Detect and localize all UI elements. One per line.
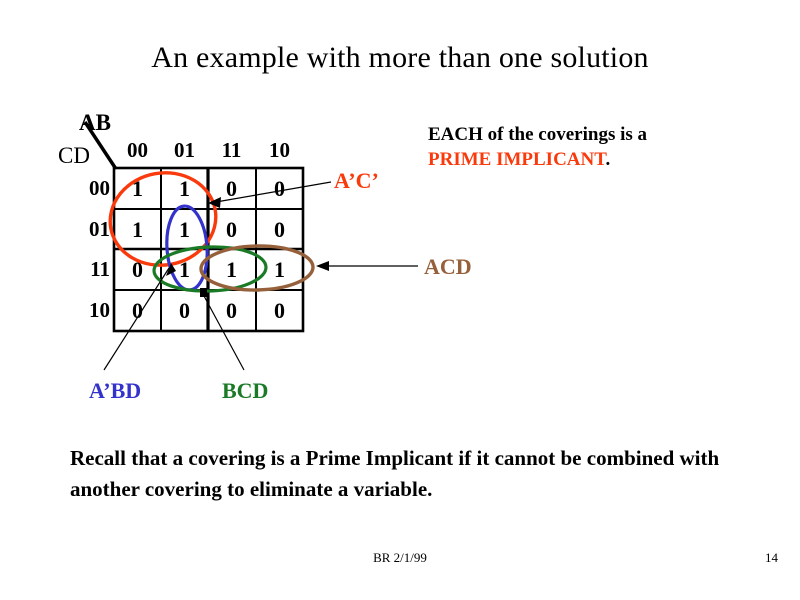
kmap-col-header-2: 11 <box>208 138 255 163</box>
footer-author-date: BR 2/1/99 <box>0 550 800 566</box>
slide-canvas: An example with more than one solution A… <box>0 0 800 600</box>
kmap-cell-r2c0: 0 <box>114 249 161 290</box>
callout-emphasis-line: PRIME IMPLICANT. <box>428 147 788 172</box>
prime-implicant-callout: EACH of the coverings is a PRIME IMPLICA… <box>428 122 788 172</box>
kmap-cell-r2c2: 1 <box>208 249 255 290</box>
group-label-a-not-c-not: A’C’ <box>334 168 379 194</box>
kmap-cell-r1c0: 1 <box>114 209 161 250</box>
callout-emphasis-text: PRIME IMPLICANT <box>428 149 606 170</box>
kmap-cell-r2c1: 1 <box>161 249 208 290</box>
slide-title: An example with more than one solution <box>0 41 800 75</box>
kmap-cell-r3c3: 0 <box>256 290 303 331</box>
kmap-cell-r0c2: 0 <box>208 168 255 209</box>
kmap-cell-r2c3: 1 <box>256 249 303 290</box>
callout-period: . <box>606 149 611 170</box>
kmap-cell-r0c0: 1 <box>114 168 161 209</box>
group-label-acd: ACD <box>424 254 472 280</box>
kmap-cell-r3c1: 0 <box>161 290 208 331</box>
kmap-row-header-2: 11 <box>62 257 110 282</box>
kmap-cell-r1c2: 0 <box>208 209 255 250</box>
kmap-col-header-3: 10 <box>256 138 303 163</box>
kmap-col-header-1: 01 <box>161 138 208 163</box>
recall-note: Recall that a covering is a Prime Implic… <box>70 443 730 505</box>
kmap-row-header-1: 01 <box>62 217 110 242</box>
kmap-row-header-0: 00 <box>62 176 110 201</box>
kmap-top-variable-label: AB <box>79 110 111 136</box>
kmap-col-header-0: 00 <box>114 138 161 163</box>
kmap-cell-r1c3: 0 <box>256 209 303 250</box>
group-label-a-not-bd: A’BD <box>89 378 141 404</box>
kmap-side-variable-label: CD <box>58 143 90 169</box>
kmap-cell-r1c1: 1 <box>161 209 208 250</box>
arrowhead-acd <box>316 261 329 271</box>
kmap-row-header-3: 10 <box>62 298 110 323</box>
kmap-cell-r3c0: 0 <box>114 290 161 331</box>
group-label-bcd: BCD <box>222 378 268 404</box>
callout-line-1: EACH of the coverings is a <box>428 124 647 145</box>
kmap-cell-r0c1: 1 <box>161 168 208 209</box>
footer-page-number: 14 <box>765 550 778 566</box>
kmap-cell-r3c2: 0 <box>208 290 255 331</box>
kmap-cell-r0c3: 0 <box>256 168 303 209</box>
